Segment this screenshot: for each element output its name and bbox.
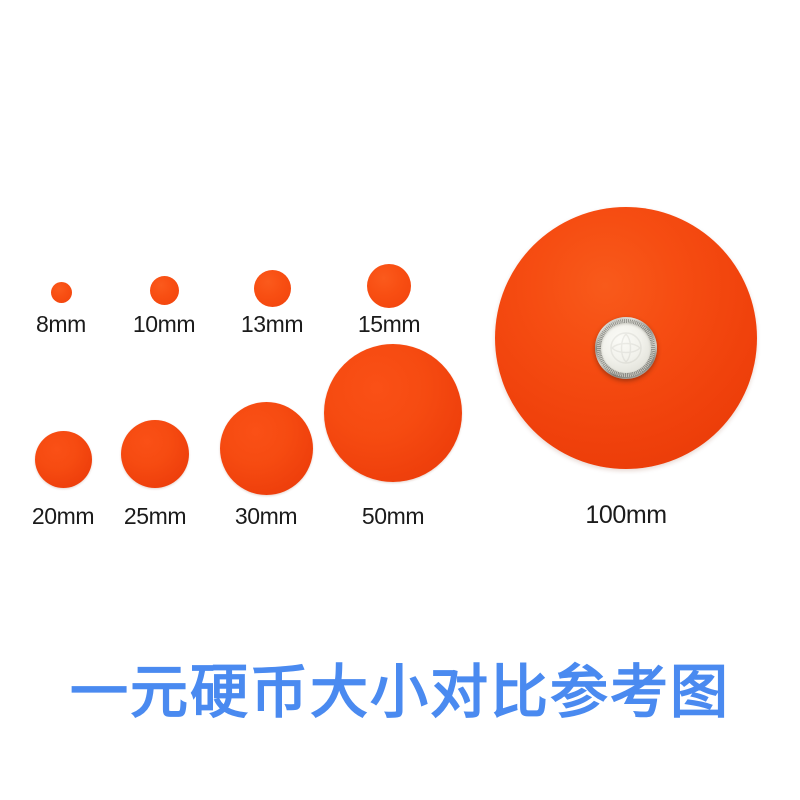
- size-comparison-figure: 8mm10mm13mm15mm20mm25mm30mm50mm100mm 一元硬…: [0, 0, 800, 800]
- coin-face: [601, 323, 651, 373]
- disc-15mm-label: 15mm: [299, 313, 479, 336]
- disc-50mm: [324, 344, 462, 482]
- disc-50mm-label: 50mm: [303, 505, 483, 528]
- disc-100mm-label: 100mm: [536, 503, 716, 528]
- disc-25mm: [121, 420, 189, 488]
- disc-8mm: [51, 282, 72, 303]
- coin-emblem-icon: [601, 323, 651, 373]
- disc-13mm: [254, 270, 291, 307]
- disc-10mm: [150, 276, 179, 305]
- disc-15mm: [367, 264, 411, 308]
- disc-30mm: [220, 402, 313, 495]
- one-yuan-coin: [595, 317, 657, 379]
- page-title: 一元硬币大小对比参考图: [0, 660, 800, 725]
- disc-20mm: [35, 431, 92, 488]
